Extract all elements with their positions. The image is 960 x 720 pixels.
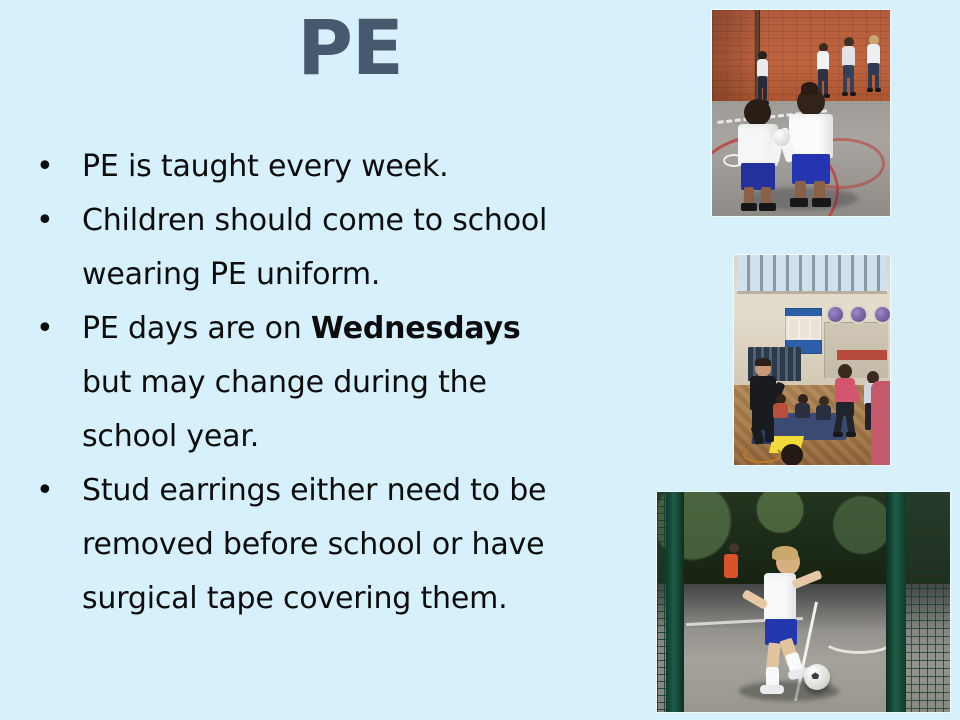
seated-child bbox=[771, 394, 790, 420]
bullet-run: PE days are on bbox=[82, 311, 311, 346]
child-in-pink bbox=[832, 364, 858, 438]
foreground-child-right bbox=[785, 88, 837, 208]
background-child bbox=[724, 554, 738, 578]
football-court-scene bbox=[657, 492, 950, 712]
photo-girl-kicking-football bbox=[657, 492, 950, 712]
playground-scene bbox=[712, 10, 890, 216]
bullet-item: •PE days are on Wednesdaysbut may change… bbox=[28, 302, 628, 464]
seated-child bbox=[814, 396, 833, 422]
hall-scene bbox=[734, 255, 890, 465]
playground-ball bbox=[773, 129, 790, 146]
football bbox=[804, 664, 830, 690]
wall-display-disc bbox=[873, 305, 890, 324]
bullet-run: Children should come to school bbox=[82, 203, 547, 238]
hall-windows bbox=[737, 255, 887, 294]
slide-canvas: PE •PE is taught every week.•Children sh… bbox=[0, 0, 960, 720]
bullet-emphasis: Wednesdays bbox=[311, 311, 521, 346]
bullet-marker: • bbox=[36, 302, 60, 356]
bullet-line: PE days are on Wednesdays bbox=[82, 302, 628, 356]
foreground-child-left bbox=[735, 99, 781, 211]
bullet-item: •PE is taught every week. bbox=[28, 140, 628, 194]
bullet-run: wearing PE uniform. bbox=[82, 257, 380, 292]
bullet-run: but may change during the bbox=[82, 365, 487, 400]
bullet-line: PE is taught every week. bbox=[82, 140, 628, 194]
trainer bbox=[760, 685, 784, 694]
background-child bbox=[865, 35, 882, 93]
bullet-item: •Stud earrings either need to beremoved … bbox=[28, 464, 628, 626]
photo-indoor-hall-pe-lesson bbox=[734, 255, 890, 465]
bullet-line: school year. bbox=[82, 410, 628, 464]
bullet-line: Children should come to school bbox=[82, 194, 628, 248]
bullet-line: Stud earrings either need to be bbox=[82, 464, 628, 518]
photo-playground-ball-game bbox=[712, 10, 890, 216]
bullet-line: surgical tape covering them. bbox=[82, 572, 628, 626]
seated-child bbox=[793, 394, 812, 420]
bullet-run: removed before school or have bbox=[82, 527, 544, 562]
goal-post-left bbox=[666, 492, 684, 712]
goal-post-right bbox=[886, 492, 906, 712]
fence-mesh-right bbox=[903, 492, 950, 712]
foreground-child-edge bbox=[871, 381, 890, 465]
bullet-line: wearing PE uniform. bbox=[82, 248, 628, 302]
bullet-run: school year. bbox=[82, 419, 259, 454]
background-child bbox=[840, 37, 857, 97]
bullet-line: removed before school or have bbox=[82, 518, 628, 572]
background-child-head bbox=[729, 543, 739, 553]
page-title: PE bbox=[0, 6, 700, 90]
bullet-line: but may change during the bbox=[82, 356, 628, 410]
bullet-marker: • bbox=[36, 140, 60, 194]
bullet-run: surgical tape covering them. bbox=[82, 581, 507, 616]
background-child bbox=[755, 51, 769, 105]
bullet-list: •PE is taught every week.•Children shoul… bbox=[28, 140, 628, 626]
bullet-run: PE is taught every week. bbox=[82, 149, 448, 184]
bullet-marker: • bbox=[36, 194, 60, 248]
bullet-item: •Children should come to schoolwearing P… bbox=[28, 194, 628, 302]
bullet-run: Stud earrings either need to be bbox=[82, 473, 546, 508]
bullet-marker: • bbox=[36, 464, 60, 518]
floor-cable bbox=[743, 446, 781, 463]
foreground-head-bottom bbox=[781, 444, 803, 465]
red-table bbox=[837, 350, 887, 361]
